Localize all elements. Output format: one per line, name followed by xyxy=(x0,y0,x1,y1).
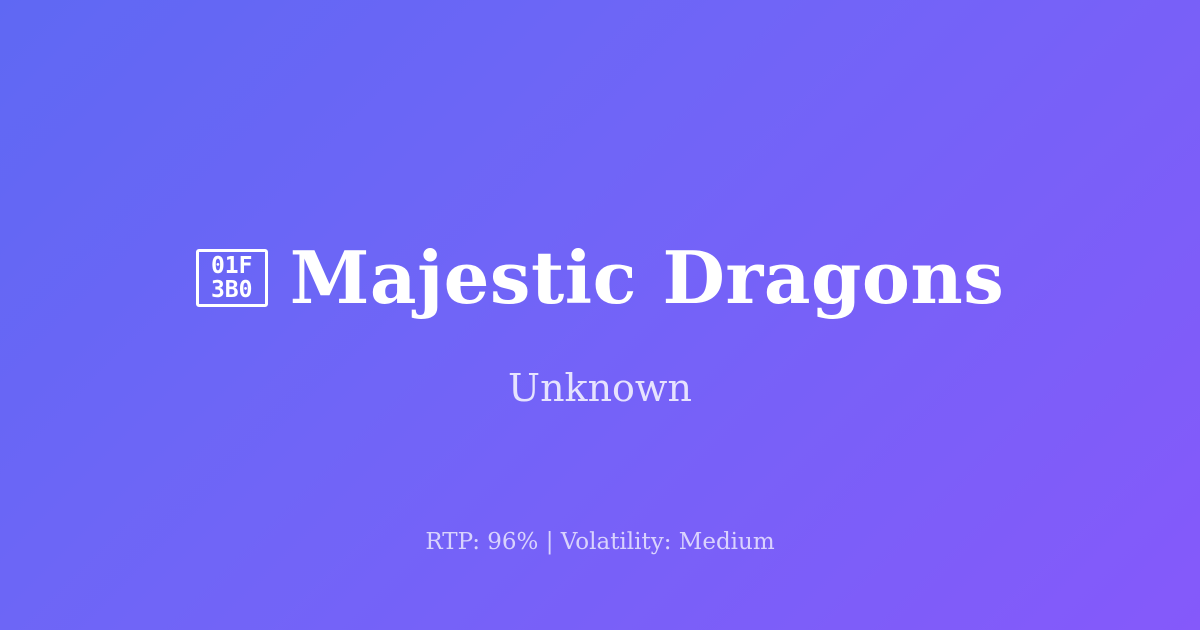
slot-machine-icon-codepoint-high: 01F xyxy=(211,254,253,278)
game-share-card: 01F 3B0 Majestic Dragons Unknown RTP: 96… xyxy=(0,0,1200,630)
slot-machine-icon: 01F 3B0 xyxy=(196,249,268,307)
slot-machine-icon-codepoint-low: 3B0 xyxy=(211,278,253,302)
game-meta-line: RTP: 96% | Volatility: Medium xyxy=(0,528,1200,556)
title-row: 01F 3B0 Majestic Dragons xyxy=(0,236,1200,320)
provider-name: Unknown xyxy=(0,365,1200,411)
page-title: Majestic Dragons xyxy=(290,236,1005,320)
